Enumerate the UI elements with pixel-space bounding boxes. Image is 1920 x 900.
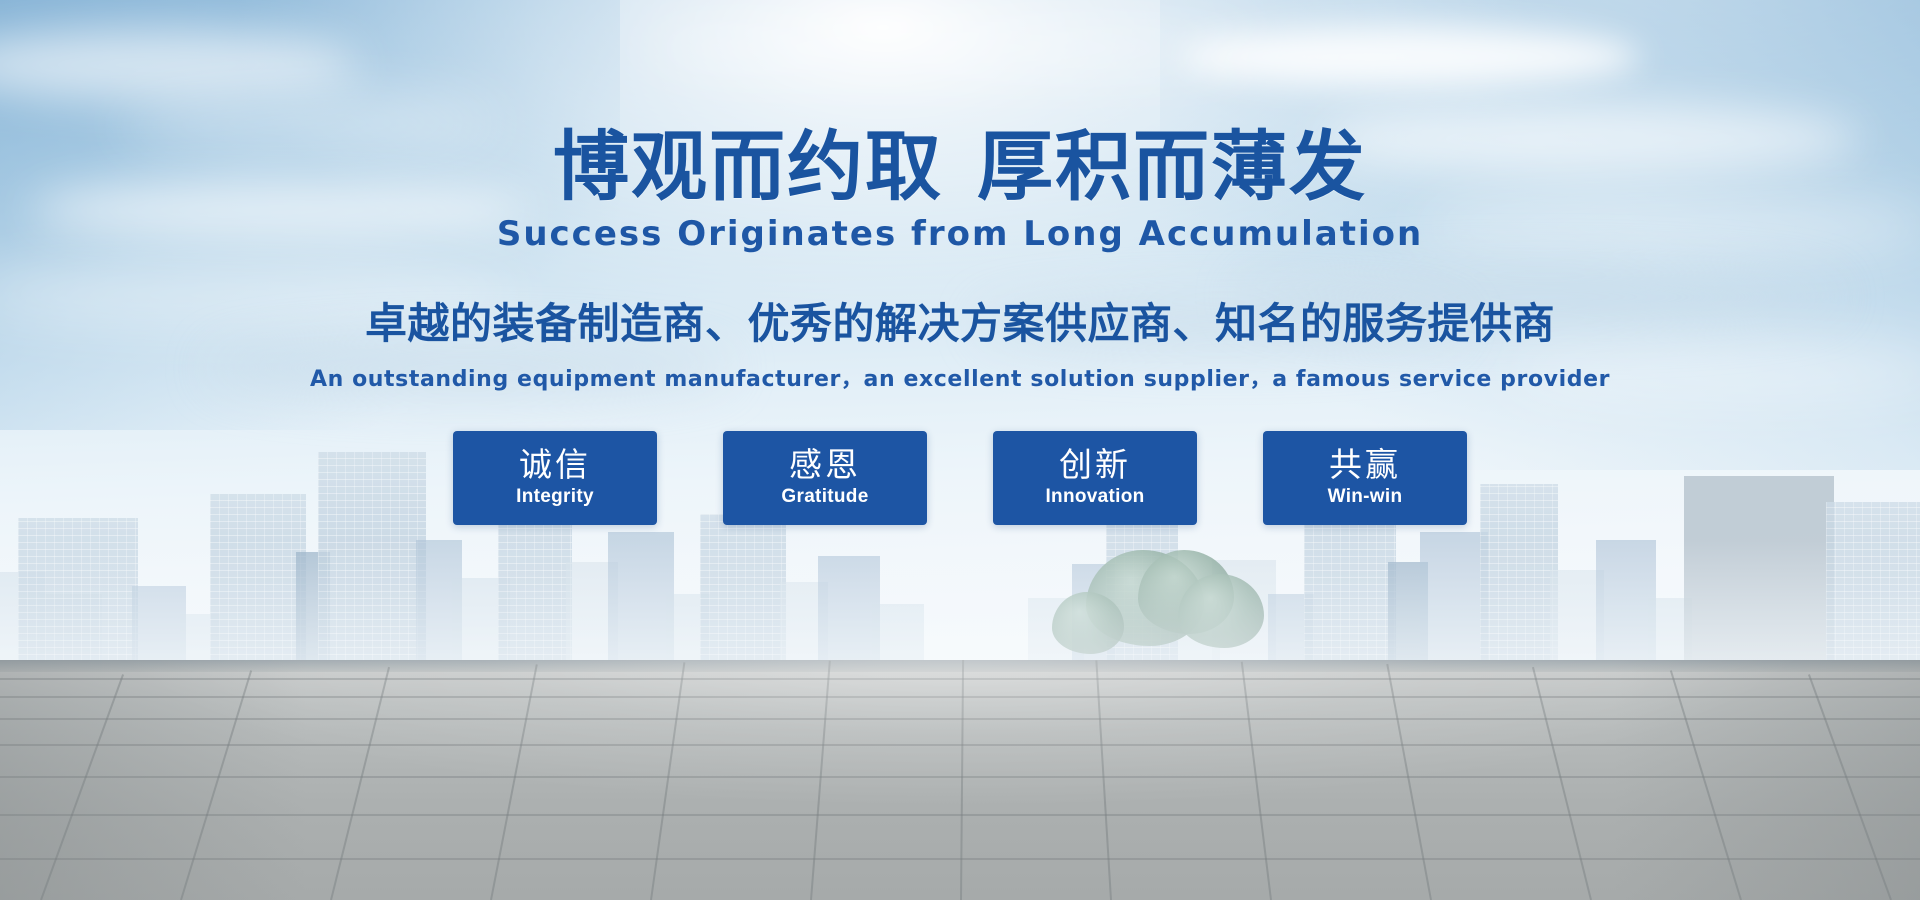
tagline-cn: 卓越的装备制造商、优秀的解决方案供应商、知名的服务提供商 <box>0 290 1920 351</box>
banner-content: 博观而约取厚积而薄发 Success Originates from Long … <box>0 0 1920 525</box>
hero-banner: 博观而约取厚积而薄发 Success Originates from Long … <box>0 0 1920 900</box>
core-values-list: 诚信 Integrity 感恩 Gratitude 创新 Innovation … <box>0 431 1920 525</box>
value-card-integrity[interactable]: 诚信 Integrity <box>453 431 657 525</box>
plaza-vignette <box>0 660 1920 900</box>
value-card-label-cn: 创新 <box>1059 447 1131 484</box>
value-card-label-cn: 共赢 <box>1329 447 1401 484</box>
tagline-en: An outstanding equipment manufacturer，an… <box>0 361 1920 393</box>
headline-cn-part1: 博观而约取 <box>553 122 943 211</box>
headline-cn-part2: 厚积而薄发 <box>977 122 1367 211</box>
value-card-label-en: Innovation <box>1045 486 1144 509</box>
value-card-winwin[interactable]: 共赢 Win-win <box>1263 431 1467 525</box>
value-card-label-en: Integrity <box>516 486 594 509</box>
value-card-label-en: Win-win <box>1328 486 1403 509</box>
page-title: 博观而约取厚积而薄发 <box>0 0 1920 206</box>
value-card-label-cn: 感恩 <box>789 447 861 484</box>
value-card-innovation[interactable]: 创新 Innovation <box>993 431 1197 525</box>
value-card-label-en: Gratitude <box>781 486 868 509</box>
headline-subtitle-en: Success Originates from Long Accumulatio… <box>0 214 1920 254</box>
plaza-floor <box>0 660 1920 900</box>
value-card-gratitude[interactable]: 感恩 Gratitude <box>723 431 927 525</box>
value-card-label-cn: 诚信 <box>519 447 591 484</box>
